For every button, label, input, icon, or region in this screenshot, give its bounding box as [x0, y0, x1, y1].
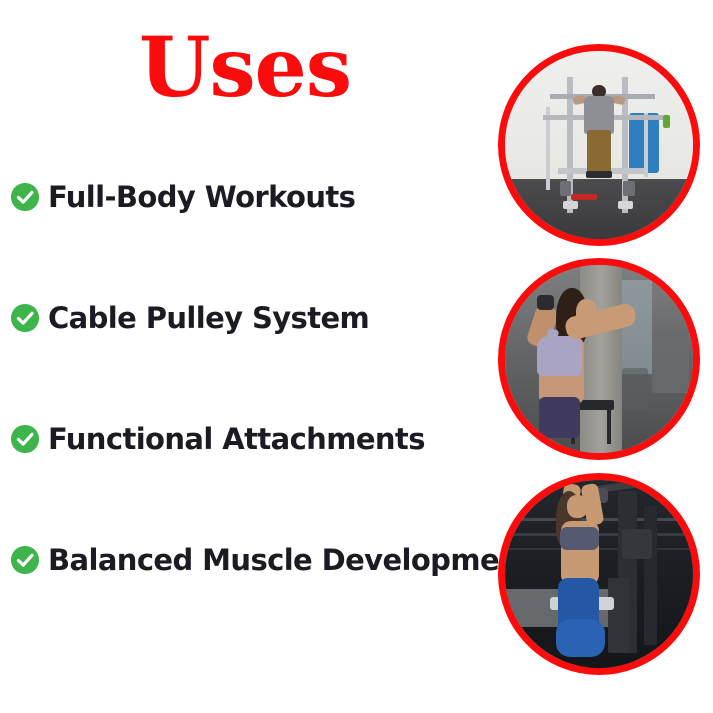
- check-circle-icon: [10, 303, 40, 333]
- check-circle-icon: [10, 424, 40, 454]
- uses-infographic: Uses Full-Body Workouts Cable Pulley Sys…: [0, 0, 713, 713]
- list-item-label: Full-Body Workouts: [48, 178, 355, 216]
- photo-scene: [505, 480, 693, 668]
- photo-scene: [505, 265, 693, 453]
- photo-cable-machine-woman: [498, 258, 700, 460]
- list-item-label: Balanced Muscle Development: [48, 541, 532, 579]
- check-circle-icon: [10, 182, 40, 212]
- list-item-label: Functional Attachments: [48, 420, 425, 458]
- page-title: Uses: [0, 22, 490, 114]
- list-item: Functional Attachments: [10, 420, 530, 541]
- list-item: Balanced Muscle Development: [10, 541, 530, 662]
- photo-pull-up-power-rack: [498, 44, 700, 246]
- photo-assisted-pull-up-woman: [498, 473, 700, 675]
- list-item: Full-Body Workouts: [10, 178, 530, 299]
- list-item: Cable Pulley System: [10, 299, 530, 420]
- list-item-label: Cable Pulley System: [48, 299, 369, 337]
- check-circle-icon: [10, 545, 40, 575]
- photo-scene: [505, 51, 693, 239]
- feature-list: Full-Body Workouts Cable Pulley System F…: [10, 178, 530, 662]
